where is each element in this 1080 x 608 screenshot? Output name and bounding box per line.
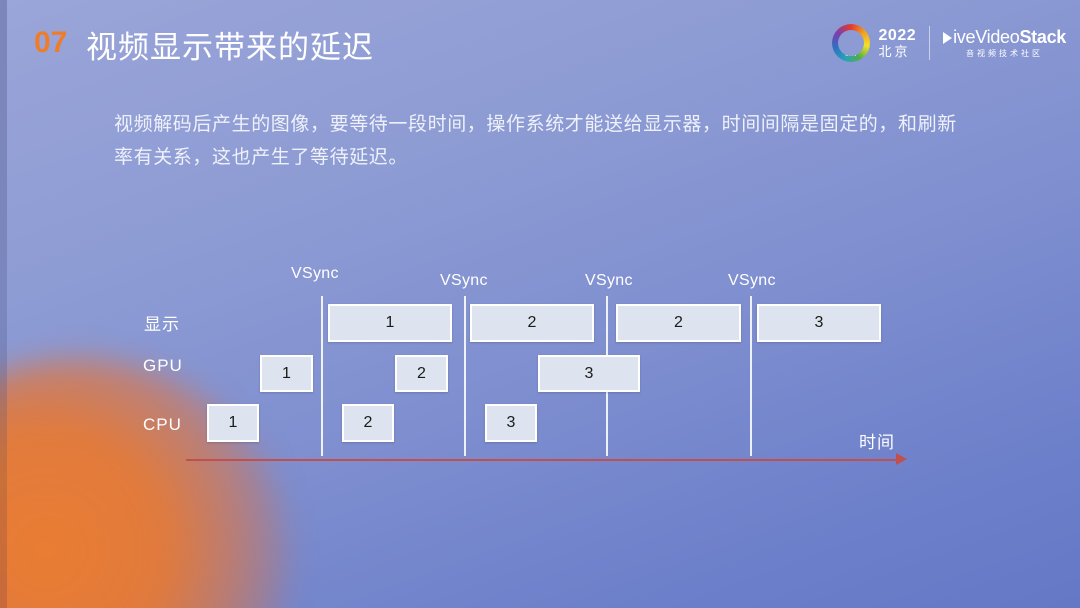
vsync-line-2 [464, 296, 466, 456]
time-axis-arrowhead-icon [896, 453, 907, 465]
timeline-block: 1 [260, 355, 313, 392]
timeline-block: 2 [616, 304, 741, 342]
vsync-label-3: VSync [585, 272, 633, 290]
timeline-block: 1 [328, 304, 452, 342]
vsync-label-4: VSync [728, 272, 776, 290]
vsync-label-1: VSync [291, 265, 339, 283]
row-label-3: CPU [143, 415, 182, 435]
vsync-timeline-diagram: VSyncVSyncVSyncVSync显示1223GPU123CPU123 时… [0, 0, 1080, 608]
timeline-block: 1 [207, 404, 259, 442]
vsync-line-1 [321, 296, 323, 456]
time-axis-label: 时间 [859, 428, 895, 453]
timeline-block: 2 [470, 304, 594, 342]
row-label-1: 显示 [144, 310, 180, 335]
timeline-block: 2 [342, 404, 394, 442]
vsync-label-2: VSync [440, 272, 488, 290]
presentation-slide: 07 视频显示带来的延迟 Live Video Stack CON 2022 北… [0, 0, 1080, 608]
timeline-block: 3 [538, 355, 640, 392]
row-label-2: GPU [143, 356, 183, 376]
timeline-block: 3 [757, 304, 881, 342]
vsync-line-4 [750, 296, 752, 456]
timeline-block: 2 [395, 355, 448, 392]
timeline-block: 3 [485, 404, 537, 442]
time-axis-line [186, 459, 902, 461]
